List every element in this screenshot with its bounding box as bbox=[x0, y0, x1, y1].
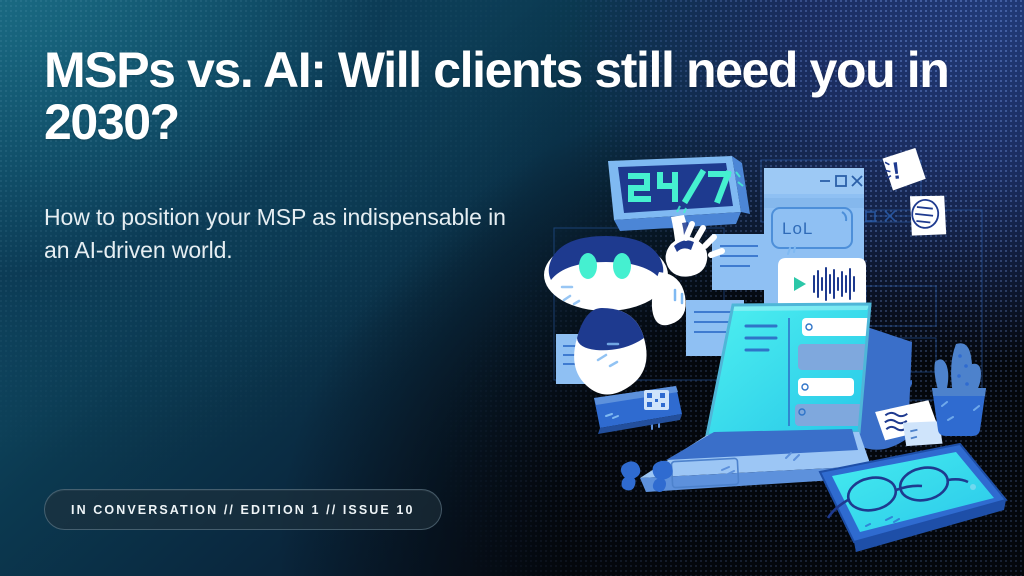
article-hero-banner: MSPs vs. AI: Will clients still need you… bbox=[0, 0, 1024, 576]
robot-eye-left bbox=[579, 253, 597, 279]
status-badge-label: IN CONVERSATION // EDITION 1 // ISSUE 10 bbox=[71, 503, 415, 517]
sticky-note-exclamation: ! bbox=[882, 148, 927, 191]
page-subtitle: How to position your MSP as indispensabl… bbox=[44, 201, 514, 267]
cactus-plant bbox=[932, 343, 986, 436]
robot-eye-right bbox=[613, 253, 631, 279]
ai-workspace-illustration: LoL bbox=[536, 148, 1024, 568]
page-title: MSPs vs. AI: Will clients still need you… bbox=[44, 44, 969, 148]
sticky-note-scribble bbox=[906, 192, 950, 239]
status-badge: IN CONVERSATION // EDITION 1 // ISSUE 10 bbox=[44, 489, 442, 530]
svg-text:LoL: LoL bbox=[782, 219, 813, 238]
